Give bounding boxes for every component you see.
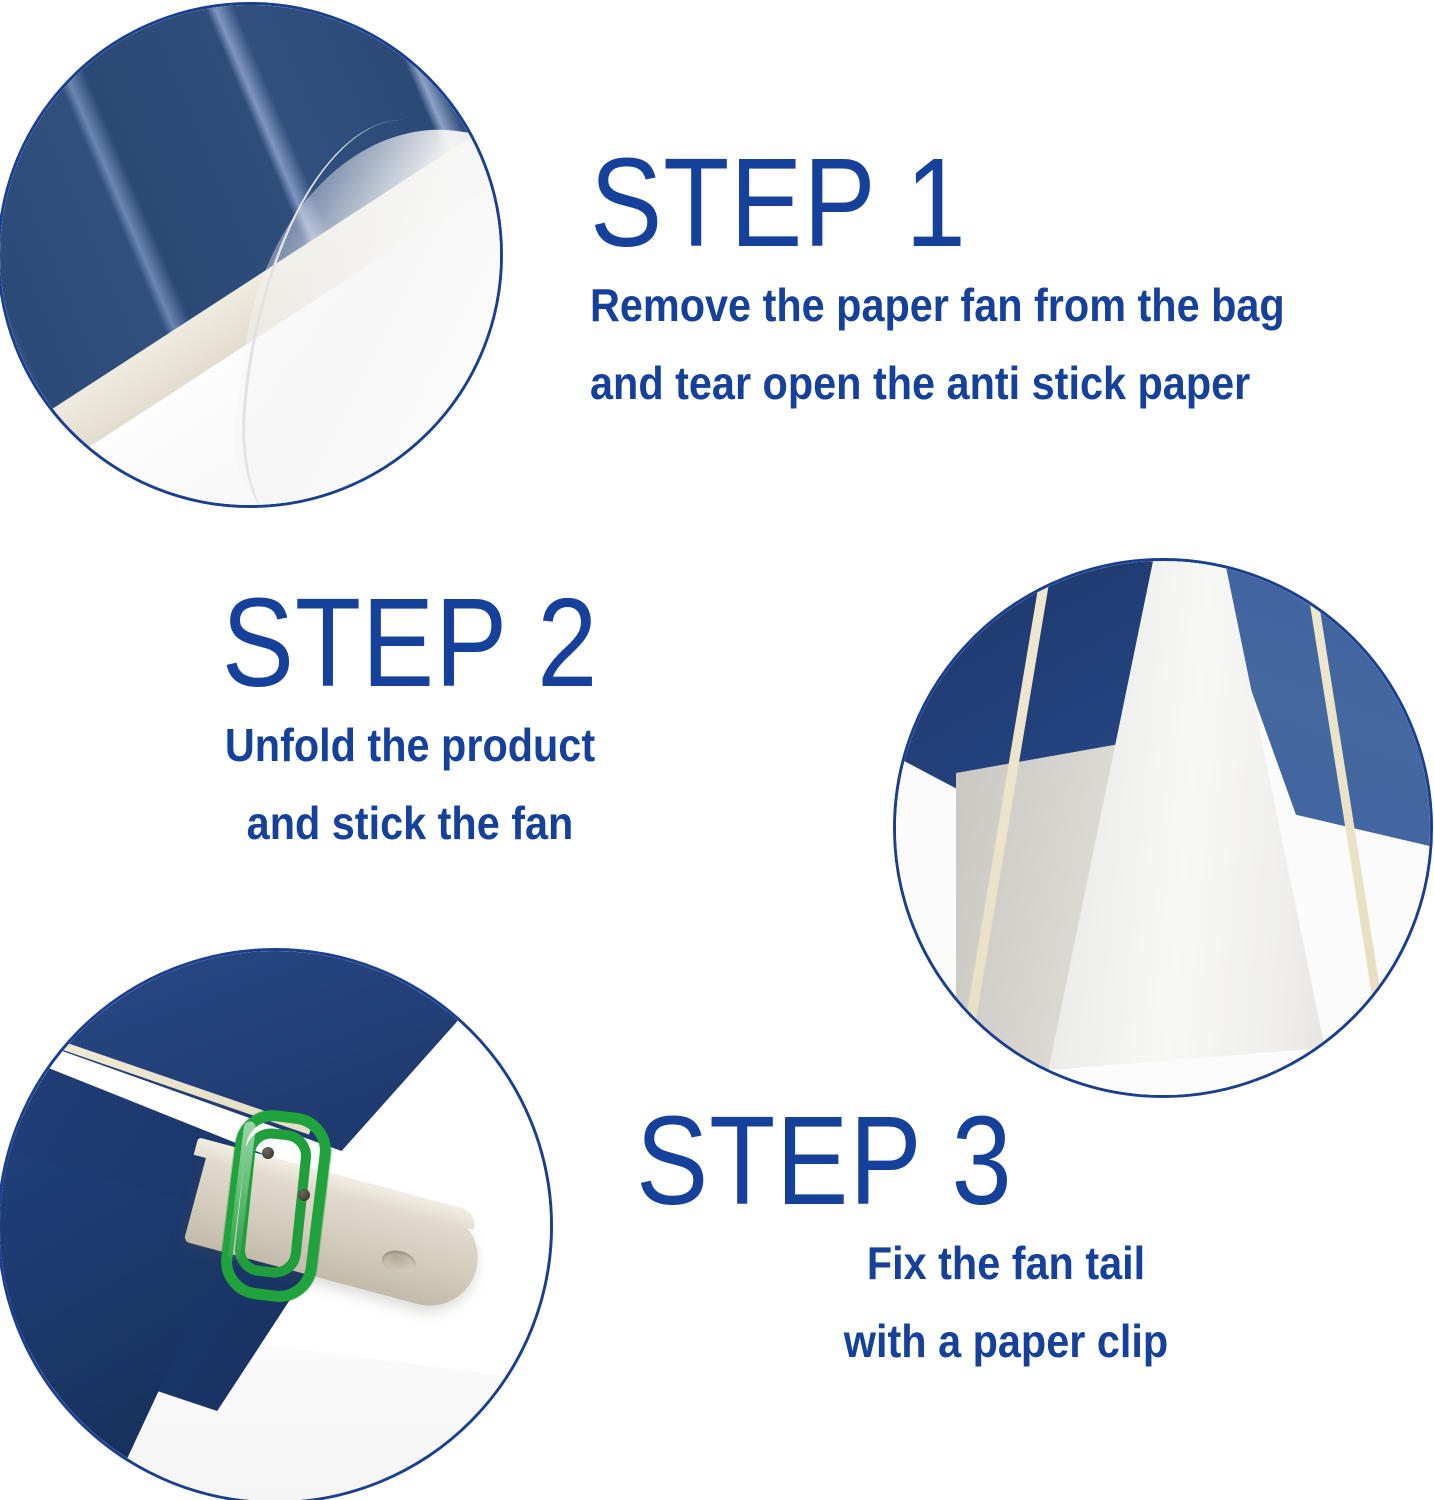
instruction-graphic: STEP 1 Remove the paper fan from the bag… [0,0,1434,1500]
step-1-text-block: STEP 1 Remove the paper fan from the bag… [590,140,1362,422]
clip-end-upper [262,1147,274,1159]
step-3-heading: STEP 3 [636,1098,1272,1224]
step-3-body-line-1: Fix the fan tail [673,1224,1339,1302]
step-1-body-line-1: Remove the paper fan from the bag [590,266,1285,344]
step-2-photo [896,561,1430,1095]
step-3-photo [0,951,550,1500]
step-1-heading: STEP 1 [590,140,1254,266]
step-1-photo-circle [0,2,503,508]
step-1-body-line-2: and tear open the anti stick paper [590,344,1285,422]
step-3-body-line-2: with a paper clip [673,1302,1339,1380]
step-2-text-block: STEP 2 Unfold the product and stick the … [80,580,740,862]
step-3-text-block: STEP 3 Fix the fan tail with a paper cli… [636,1098,1376,1380]
step-2-body-line-2: and stick the fan [113,784,707,862]
step-2-photo-circle [893,558,1433,1098]
step-1-photo [0,5,500,505]
step-2-heading: STEP 2 [126,580,694,706]
step-3-photo-circle [0,948,553,1500]
clip-end-lower [298,1189,310,1201]
step-2-body-line-1: Unfold the product [113,706,707,784]
